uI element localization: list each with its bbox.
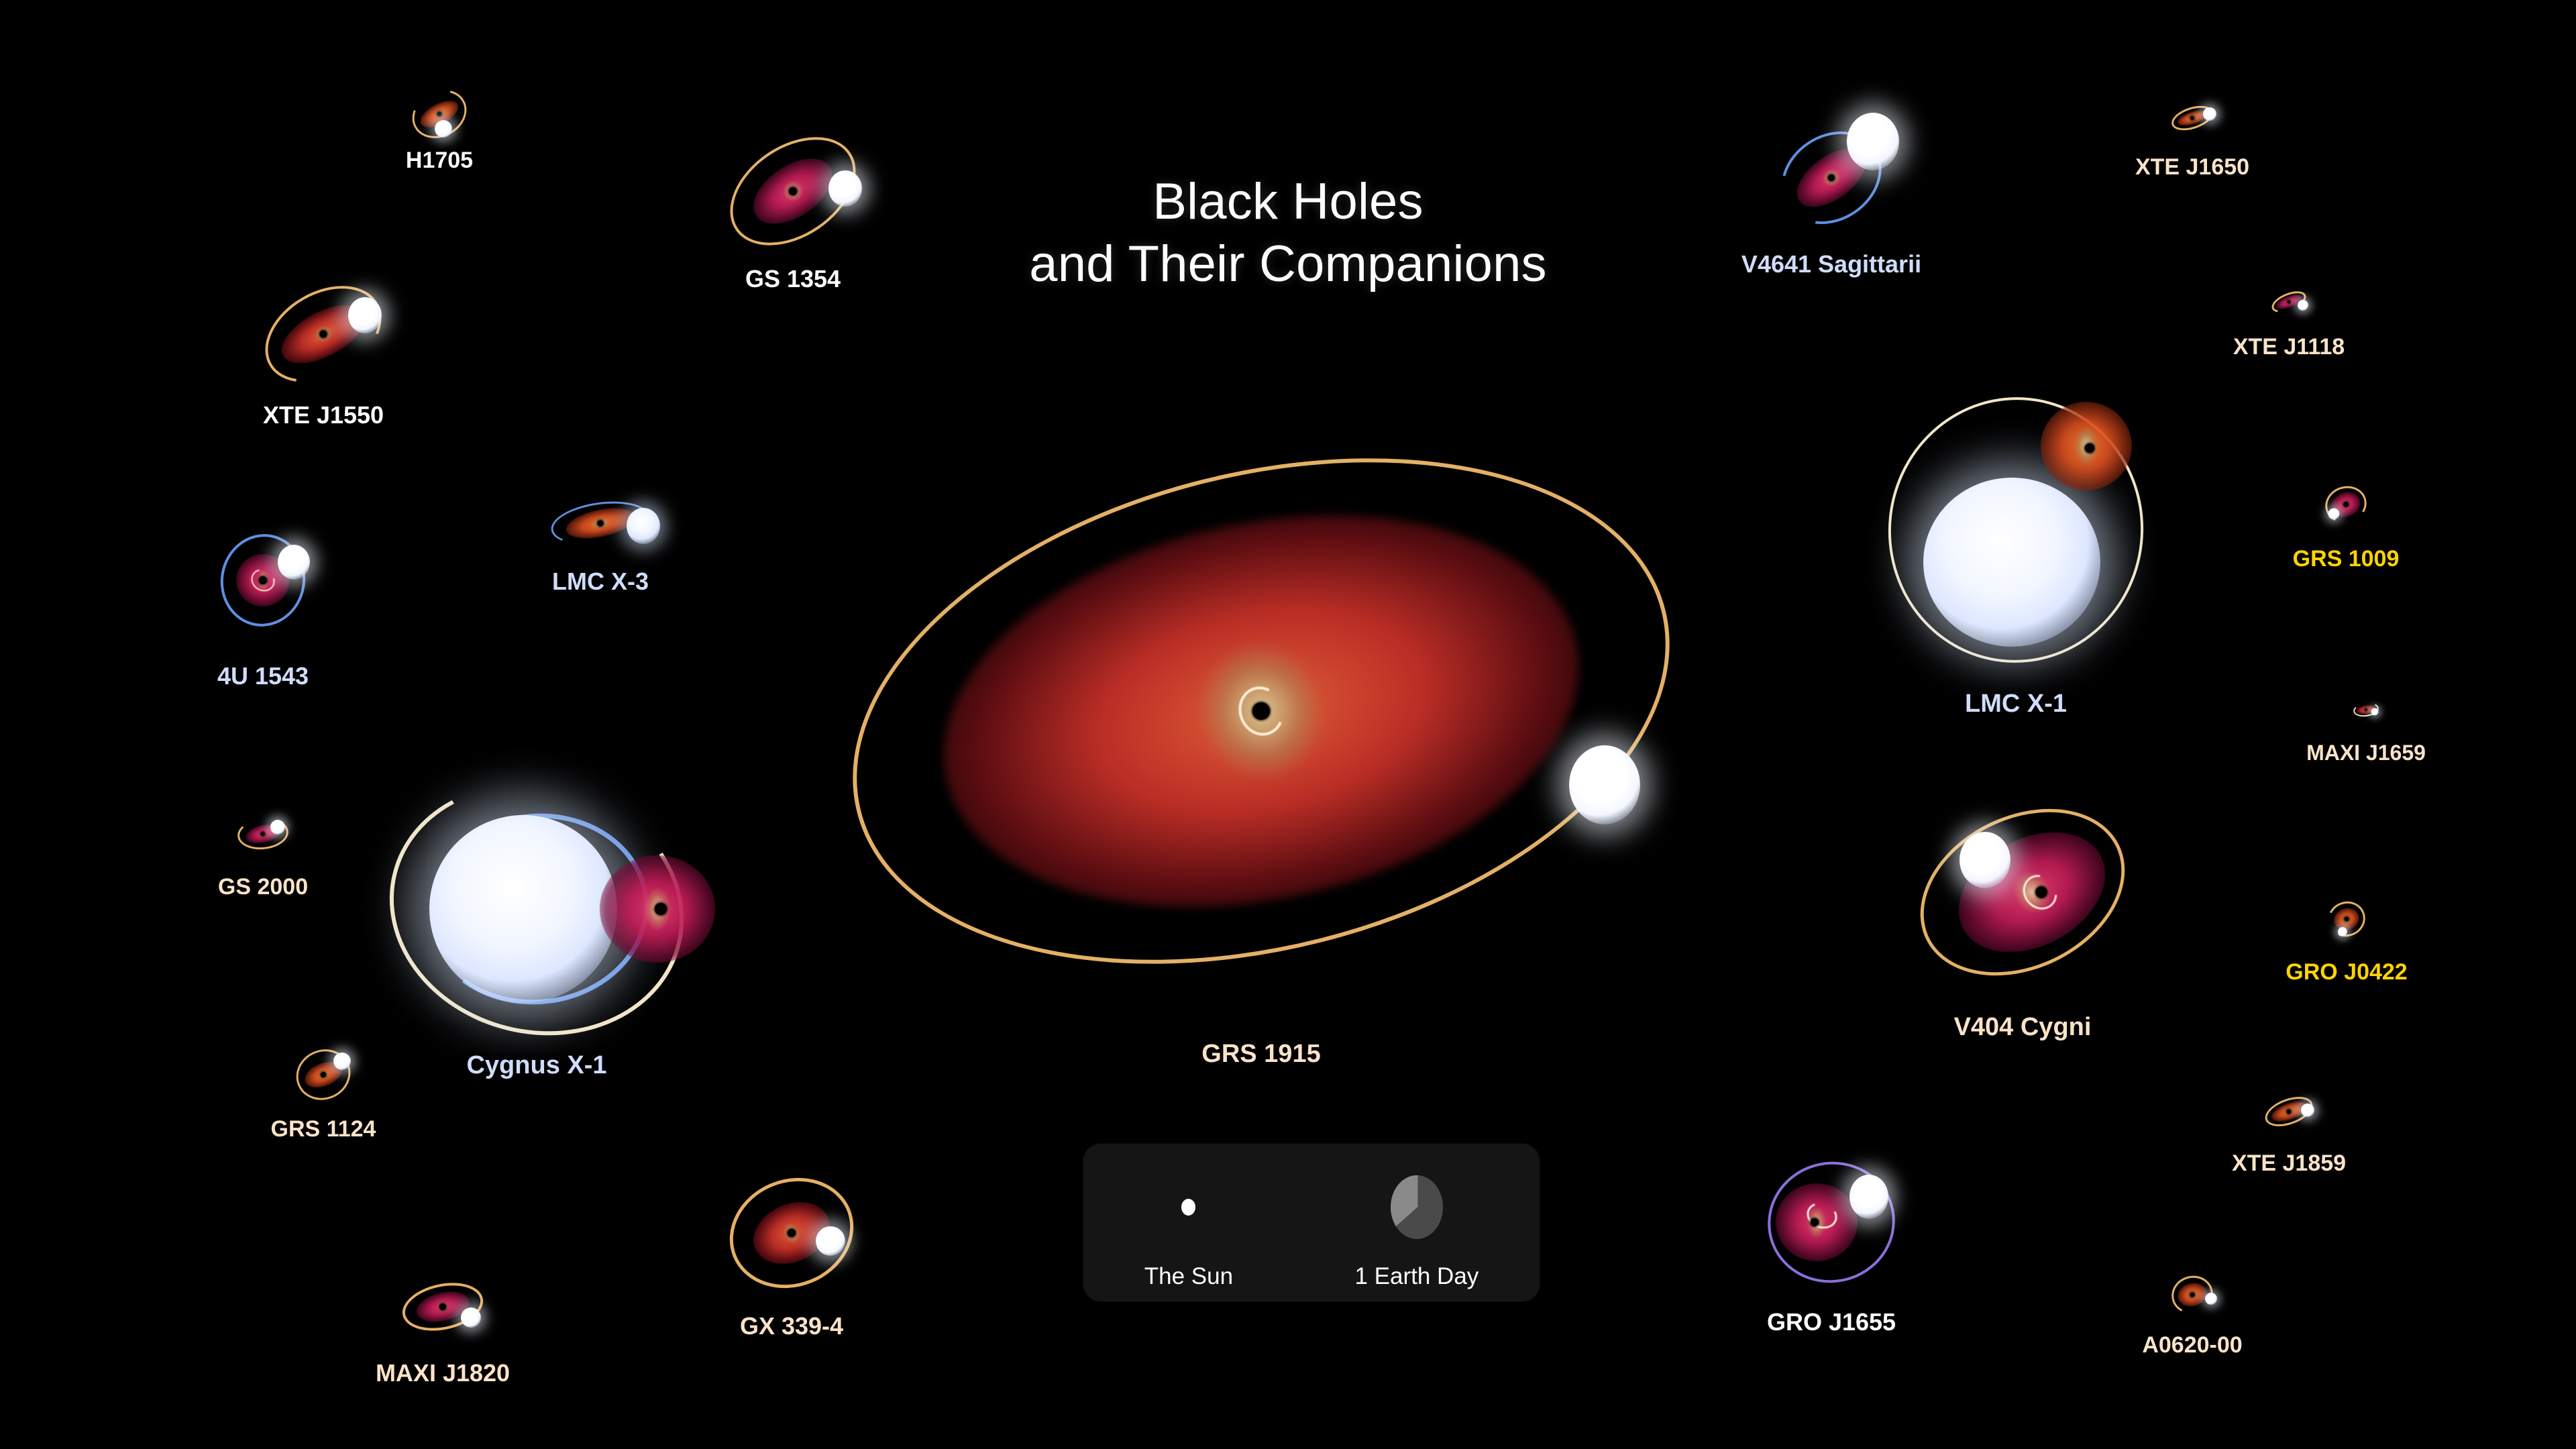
system-label: H1705 — [406, 148, 473, 174]
black-hole — [261, 832, 266, 837]
system-label: V4641 Sagittarii — [1741, 250, 1921, 278]
black-hole — [2345, 917, 2349, 922]
companion-star — [2328, 508, 2340, 520]
companion-star — [1849, 1175, 1888, 1219]
companion-star — [429, 815, 617, 1003]
black-hole — [2036, 887, 2047, 898]
system-label: A0620-00 — [2142, 1332, 2242, 1358]
system-label: XTE J1550 — [263, 401, 384, 429]
companion-star — [1847, 113, 1899, 170]
system-label: LMC X-1 — [1965, 690, 2067, 718]
black-hole — [439, 1303, 446, 1310]
title-line-2: and Their Companions — [0, 233, 2576, 296]
companion-star — [333, 1053, 351, 1070]
system-label: GRS 1915 — [1201, 1040, 1320, 1069]
black-hole — [320, 331, 327, 338]
black-hole — [321, 1072, 326, 1077]
companion-star — [2203, 107, 2216, 121]
system-label: XTE J1650 — [2135, 154, 2249, 180]
black-hole — [789, 187, 797, 195]
page-title: Black Holes and Their Companions — [0, 171, 2576, 295]
black-hole — [1828, 174, 1835, 181]
system-label: XTE J1118 — [2233, 334, 2345, 360]
system-label: GRS 1009 — [2293, 546, 2400, 572]
companion-star — [278, 545, 310, 580]
system-label: 4U 1543 — [217, 662, 309, 690]
system-label: GRS 1124 — [271, 1116, 376, 1142]
legend-label-earth-day: 1 Earth Day — [1354, 1263, 1479, 1290]
legend-item-sun: The Sun — [1144, 1132, 1233, 1313]
black-hole — [1252, 702, 1270, 720]
companion-star — [1960, 832, 2010, 888]
black-hole — [259, 576, 267, 584]
black-hole — [655, 903, 667, 915]
system-label: XTE J1859 — [2232, 1150, 2346, 1177]
black-hole — [788, 1229, 796, 1237]
title-line-1: Black Holes — [1152, 173, 1423, 230]
black-hole — [2343, 502, 2349, 507]
black-hole — [2288, 301, 2291, 304]
companion-star — [2298, 300, 2308, 311]
companion-star — [2338, 927, 2347, 936]
legend-label-sun: The Sun — [1144, 1263, 1233, 1290]
companion-star — [348, 297, 382, 333]
starfield-canvas: Black Holes and Their Companions H1705 G… — [0, 0, 2576, 1449]
system-label: GS 2000 — [218, 874, 308, 900]
legend-item-earth-day: 1 Earth Day — [1354, 1132, 1479, 1313]
black-hole — [2085, 443, 2094, 453]
system-label: LMC X-3 — [552, 568, 649, 596]
system-label: MAXI J1659 — [2306, 741, 2426, 765]
system-label: GX 339-4 — [740, 1312, 843, 1340]
companion-star — [461, 1307, 481, 1328]
system-label: GS 1354 — [745, 265, 841, 293]
black-hole — [2190, 116, 2194, 120]
system-label: Cygnus X-1 — [466, 1051, 606, 1080]
system-label: GRO J1655 — [1767, 1308, 1896, 1336]
earth-day-icon — [1391, 1157, 1443, 1256]
black-hole — [437, 112, 442, 117]
companion-star — [435, 120, 452, 138]
companion-star — [2301, 1104, 2314, 1117]
system-label: GRO J0422 — [2286, 959, 2407, 985]
companion-star — [1569, 745, 1640, 824]
companion-star — [270, 820, 285, 835]
system-label: V404 Cygni — [1954, 1013, 2092, 1042]
black-hole — [2190, 1293, 2195, 1297]
black-hole — [1811, 1218, 1819, 1226]
companion-star — [2371, 708, 2379, 716]
black-hole — [2287, 1110, 2292, 1114]
system-label: MAXI J1820 — [376, 1359, 510, 1387]
black-hole — [598, 521, 604, 527]
legend-panel: The Sun 1 Earth Day — [1083, 1144, 1540, 1301]
companion-star — [1923, 478, 2100, 647]
companion-star — [816, 1226, 845, 1256]
companion-star — [828, 170, 862, 207]
companion-star — [2205, 1293, 2217, 1305]
sun-icon — [1181, 1157, 1195, 1256]
companion-star — [627, 508, 660, 544]
black-hole — [2365, 708, 2367, 711]
